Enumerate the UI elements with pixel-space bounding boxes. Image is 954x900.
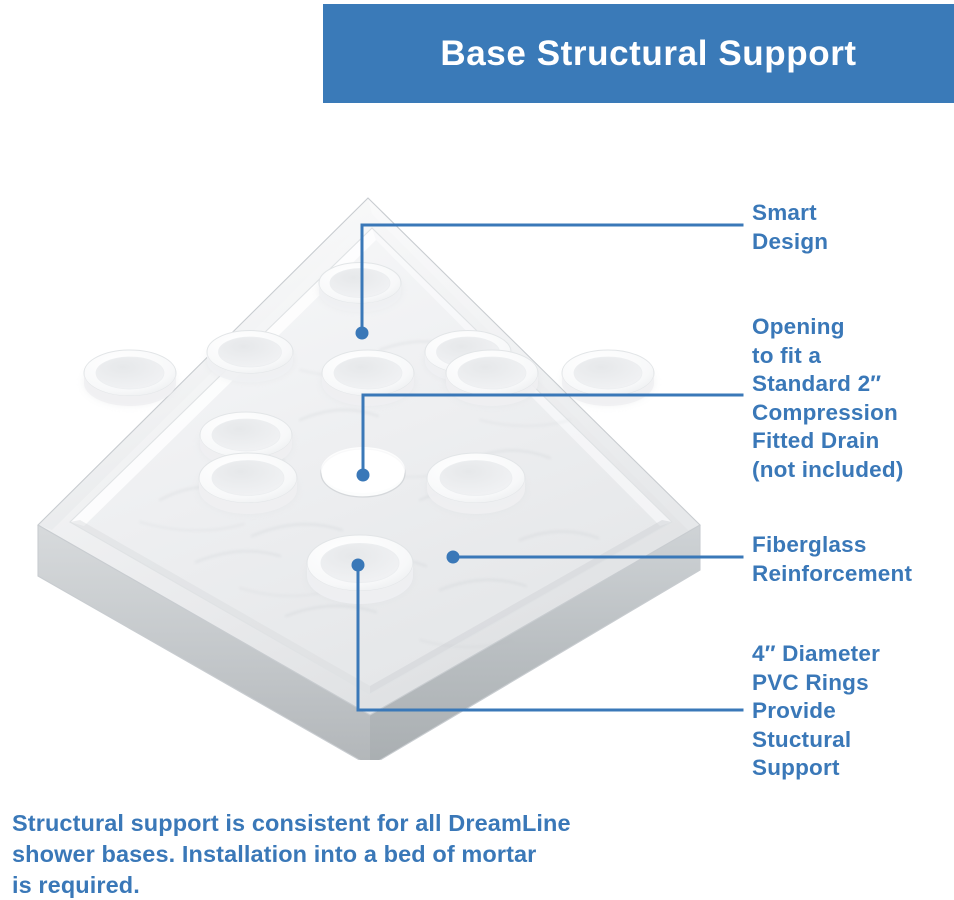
callout-label-drain-opening: Opening to fit a Standard 2″ Compression… <box>752 313 904 484</box>
pvc-ring <box>322 350 414 406</box>
pvc-ring <box>427 453 525 514</box>
pvc-ring <box>446 350 538 406</box>
callout-label-smart-design: Smart Design <box>752 199 828 256</box>
title-banner: Base Structural Support <box>323 4 954 103</box>
shower-base-svg <box>0 170 740 760</box>
callout-label-fiberglass: Fiberglass Reinforcement <box>752 531 912 588</box>
product-illustration <box>0 170 740 760</box>
pvc-ring <box>307 535 413 604</box>
callout-label-pvc-rings: 4″ Diameter PVC Rings Provide Stuctural … <box>752 640 880 783</box>
pvc-ring <box>84 350 176 406</box>
bottom-caption: Structural support is consistent for all… <box>12 808 632 900</box>
center-drain-opening <box>321 447 405 497</box>
page-title: Base Structural Support <box>323 34 954 74</box>
infographic-page: Base Structural Support <box>0 0 954 900</box>
pvc-ring <box>207 331 293 383</box>
pvc-ring <box>562 350 654 406</box>
pvc-ring <box>319 263 401 313</box>
pvc-ring <box>199 453 297 514</box>
